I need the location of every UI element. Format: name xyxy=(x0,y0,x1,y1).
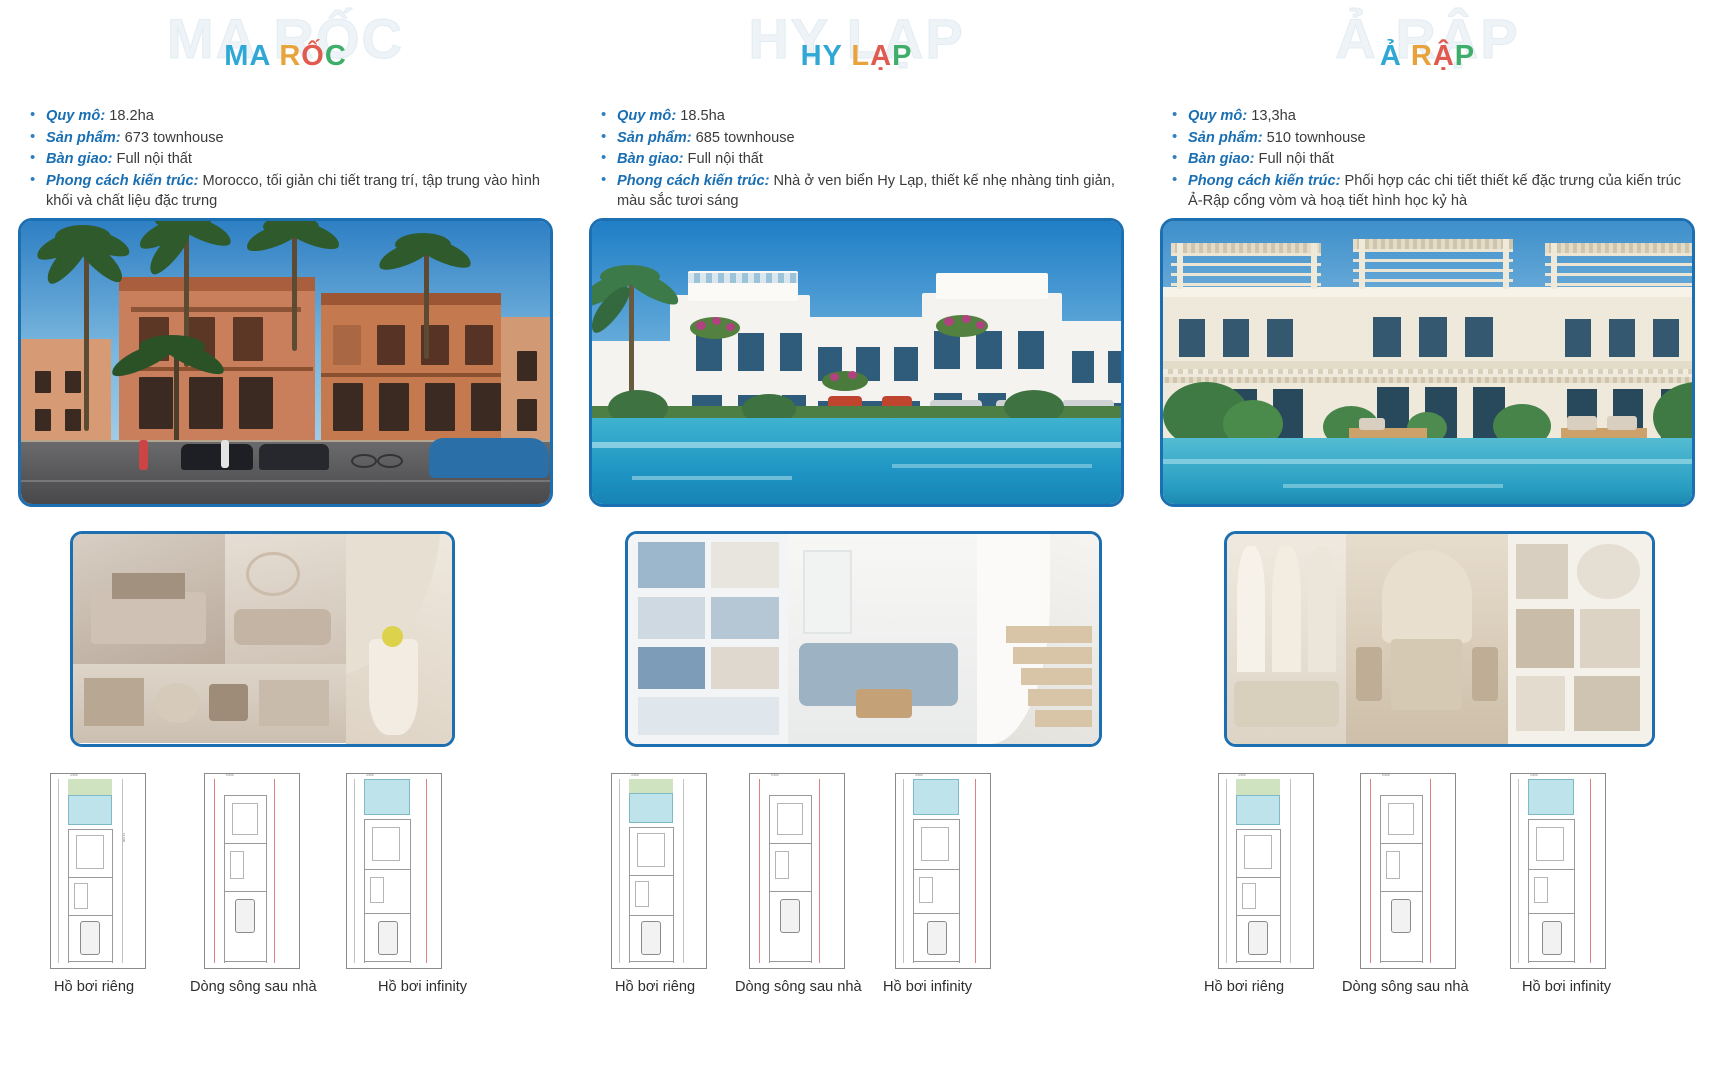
spec-label: Sản phẩm: xyxy=(1188,130,1263,146)
column-arap: Ả RẬP Ả RẬP Quy mô: 13,3ha Sản phẩm: 510… xyxy=(1142,0,1713,1080)
spec-label: Quy mô: xyxy=(1188,108,1247,124)
title-part-0: MA xyxy=(224,40,279,72)
spec-item-handover: Bàn giao: Full nội thất xyxy=(1188,149,1689,170)
floorplan-captions-maroc: Hồ bơi riêng Dòng sông sau nhà Hồ bơi in… xyxy=(0,979,571,1003)
spec-label: Phong cách kiến trúc: xyxy=(1188,173,1340,189)
title-block-arap: Ả RẬP Ả RẬP xyxy=(1142,2,1713,102)
palm-tree-icon xyxy=(51,231,121,431)
spec-item-product: Sản phẩm: 510 townhouse xyxy=(1188,128,1689,149)
spec-item-style: Phong cách kiến trúc: Morocco, tối giản … xyxy=(46,171,547,212)
spec-item-handover: Bàn giao: Full nội thất xyxy=(617,149,1118,170)
floorplan-infinity-pool: 4.500 xyxy=(1510,773,1606,969)
floorplan-private-pool: 4.500 18.000 xyxy=(50,773,146,969)
title-main-arap: Ả RẬP xyxy=(1142,40,1713,73)
spec-list-maroc: Quy mô: 18.2ha Sản phẩm: 673 townhouse B… xyxy=(0,106,571,212)
floorplans-maroc: 4.500 18.000 5.000 xyxy=(0,773,571,983)
car-shape xyxy=(181,444,253,470)
plan-caption-0: Hồ bơi riêng xyxy=(1204,979,1284,995)
spec-item-scale: Quy mô: 13,3ha xyxy=(1188,106,1689,127)
column-hylap: HY LẠP HY LẠP Quy mô: 18.5ha Sản phẩm: 6… xyxy=(571,0,1142,1080)
spec-label: Bàn giao: xyxy=(617,151,683,167)
title-main-hylap: HY LẠP xyxy=(571,40,1142,73)
title-part-0: Ả xyxy=(1380,40,1411,72)
spec-value: 13,3ha xyxy=(1247,108,1296,124)
spec-value: 510 townhouse xyxy=(1263,130,1366,146)
spec-value: 685 townhouse xyxy=(692,130,795,146)
floorplan-river-behind: 5.000 xyxy=(1360,773,1456,969)
title-block-maroc: MA RỐC MA RỐC xyxy=(0,2,571,102)
spec-label: Phong cách kiến trúc: xyxy=(46,173,198,189)
floorplans-arap: 4.500 5.000 xyxy=(1142,773,1713,983)
hero-image-arap xyxy=(1160,218,1695,507)
title-part-3: P xyxy=(892,40,912,72)
spec-item-handover: Bàn giao: Full nội thất xyxy=(46,149,547,170)
floorplan-captions-arap: Hồ bơi riêng Dòng sông sau nhà Hồ bơi in… xyxy=(1142,979,1713,1003)
floorplan-infinity-pool: 4.500 xyxy=(346,773,442,969)
mood-tile-bedroom xyxy=(1346,534,1508,744)
mood-tile-arches xyxy=(1227,534,1346,744)
spec-item-scale: Quy mô: 18.2ha xyxy=(46,106,547,127)
spec-list-hylap: Quy mô: 18.5ha Sản phẩm: 685 townhouse B… xyxy=(571,106,1142,212)
spec-item-style: Phong cách kiến trúc: Phối hợp các chi t… xyxy=(1188,171,1689,212)
spec-item-product: Sản phẩm: 673 townhouse xyxy=(46,128,547,149)
spec-label: Bàn giao: xyxy=(46,151,112,167)
spec-value: 18.5ha xyxy=(676,108,725,124)
plan-caption-2: Hồ bơi infinity xyxy=(1522,979,1611,995)
mood-tile-palette xyxy=(628,534,788,744)
hero-image-hylap xyxy=(589,218,1124,507)
title-part-3: P xyxy=(1455,40,1475,72)
spec-list-arap: Quy mô: 13,3ha Sản phẩm: 510 townhouse B… xyxy=(1142,106,1713,212)
spec-label: Phong cách kiến trúc: xyxy=(617,173,769,189)
moodboard-hylap xyxy=(625,531,1102,747)
floorplan-river-behind: 5.000 xyxy=(749,773,845,969)
plan-caption-0: Hồ bơi riêng xyxy=(54,979,134,995)
floorplan-private-pool: 4.500 xyxy=(1218,773,1314,969)
spec-item-scale: Quy mô: 18.5ha xyxy=(617,106,1118,127)
palm-tree-icon xyxy=(391,239,461,359)
spec-item-product: Sản phẩm: 685 townhouse xyxy=(617,128,1118,149)
mood-tile-staircase xyxy=(977,534,1099,744)
spec-value: 673 townhouse xyxy=(121,130,224,146)
column-maroc: MA RỐC MA RỐC Quy mô: 18.2ha Sản phẩm: 6… xyxy=(0,0,571,1080)
mood-tile-livingroom xyxy=(788,534,976,744)
floorplan-captions-hylap: Hồ bơi riêng Dòng sông sau nhà Hồ bơi in… xyxy=(571,979,1142,1003)
title-part-2: Ạ xyxy=(870,40,892,72)
plan-caption-2: Hồ bơi infinity xyxy=(378,979,467,995)
car-shape xyxy=(429,438,549,478)
car-shape xyxy=(259,444,329,470)
plan-caption-1: Dòng sông sau nhà xyxy=(1342,979,1469,995)
brochure-page: MA RỐC MA RỐC Quy mô: 18.2ha Sản phẩm: 6… xyxy=(0,0,1713,1080)
spec-value: 18.2ha xyxy=(105,108,154,124)
spec-item-style: Phong cách kiến trúc: Nhà ở ven biển Hy … xyxy=(617,171,1118,212)
title-part-1: R xyxy=(1411,40,1433,72)
title-block-hylap: HY LẠP HY LẠP xyxy=(571,2,1142,102)
mood-tile-bedroom xyxy=(73,534,225,664)
palm-tree-icon xyxy=(259,221,329,351)
plan-caption-0: Hồ bơi riêng xyxy=(615,979,695,995)
spec-label: Sản phẩm: xyxy=(617,130,692,146)
title-part-3: C xyxy=(325,40,347,72)
title-part-2: Ậ xyxy=(1433,40,1455,72)
hero-image-maroc xyxy=(18,218,553,507)
moodboard-maroc xyxy=(70,531,455,747)
title-main-maroc: MA RỐC xyxy=(0,40,571,73)
spec-value: Full nội thất xyxy=(112,151,192,167)
spec-label: Sản phẩm: xyxy=(46,130,121,146)
floorplans-hylap: 4.500 5.000 xyxy=(571,773,1142,983)
spec-value: Full nội thất xyxy=(1254,151,1334,167)
floorplan-river-behind: 5.000 xyxy=(204,773,300,969)
title-part-1: R xyxy=(279,40,301,72)
mood-tile-sofa xyxy=(225,534,346,664)
mood-tile-materials xyxy=(73,664,346,744)
title-part-1: L xyxy=(851,40,870,72)
mood-tile-materials xyxy=(1508,534,1653,744)
mood-tile-arch xyxy=(346,534,452,744)
plan-caption-1: Dòng sông sau nhà xyxy=(735,979,862,995)
title-part-0: HY xyxy=(801,40,852,72)
moodboard-arap xyxy=(1224,531,1655,747)
spec-label: Quy mô: xyxy=(46,108,105,124)
floorplan-private-pool: 4.500 xyxy=(611,773,707,969)
spec-label: Bàn giao: xyxy=(1188,151,1254,167)
plan-caption-2: Hồ bơi infinity xyxy=(883,979,972,995)
spec-label: Quy mô: xyxy=(617,108,676,124)
floorplan-infinity-pool: 4.500 xyxy=(895,773,991,969)
title-part-2: Ố xyxy=(301,40,325,72)
plan-caption-1: Dòng sông sau nhà xyxy=(190,979,317,995)
spec-value: Full nội thất xyxy=(683,151,763,167)
